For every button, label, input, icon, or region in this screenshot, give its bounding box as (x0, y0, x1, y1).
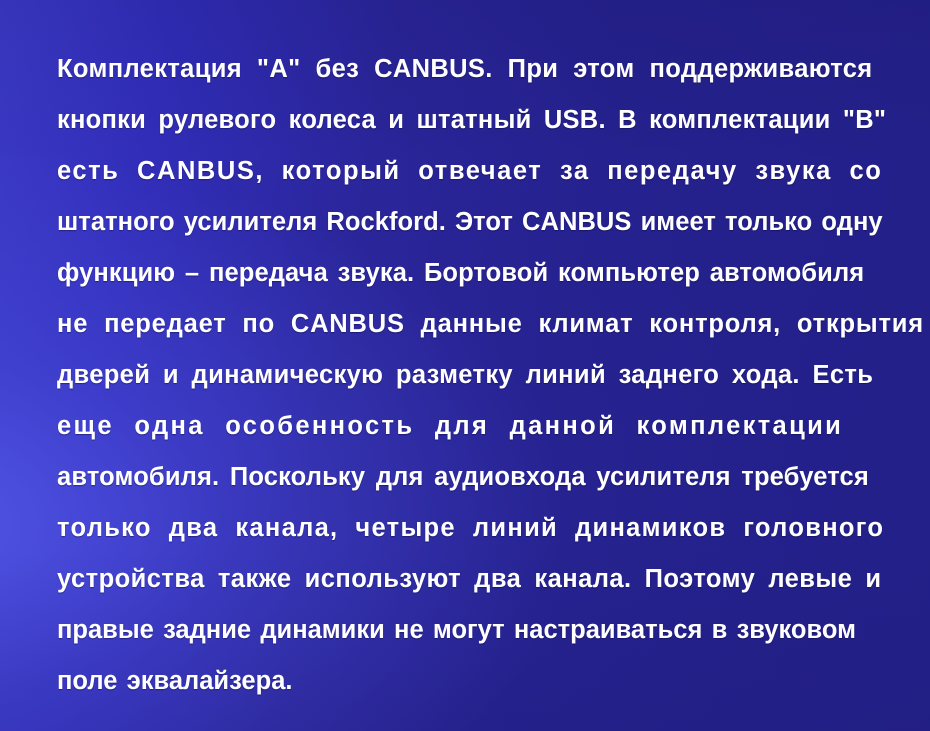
paragraph-line: Комплектация "A" без CANBUS. При этом по… (57, 44, 876, 95)
paragraph-text-block: Комплектация "A" без CANBUS. При этом по… (57, 44, 876, 707)
paragraph-line: поле эквалайзера. (57, 656, 876, 707)
paragraph-line: устройства также используют два канала. … (57, 554, 876, 605)
paragraph-line: еще одна особенность для данной комплект… (57, 401, 876, 452)
paragraph-line: кнопки рулевого колеса и штатный USB. В … (57, 95, 876, 146)
paragraph-line: есть CANBUS, который отвечает за передач… (57, 146, 876, 197)
slide-canvas: Комплектация "A" без CANBUS. При этом по… (0, 0, 930, 731)
paragraph-line: функцию – передача звука. Бортовой компь… (57, 248, 876, 299)
paragraph-line: только два канала, четыре линий динамико… (57, 503, 876, 554)
paragraph-line: правые задние динамики не могут настраив… (57, 605, 876, 656)
paragraph-line: штатного усилителя Rockford. Этот CANBUS… (57, 197, 876, 248)
paragraph-line: автомобиля. Поскольку для аудиовхода уси… (57, 452, 876, 503)
paragraph-line: дверей и динамическую разметку линий зад… (57, 350, 876, 401)
paragraph-line: не передает по CANBUS данные климат конт… (57, 299, 876, 350)
